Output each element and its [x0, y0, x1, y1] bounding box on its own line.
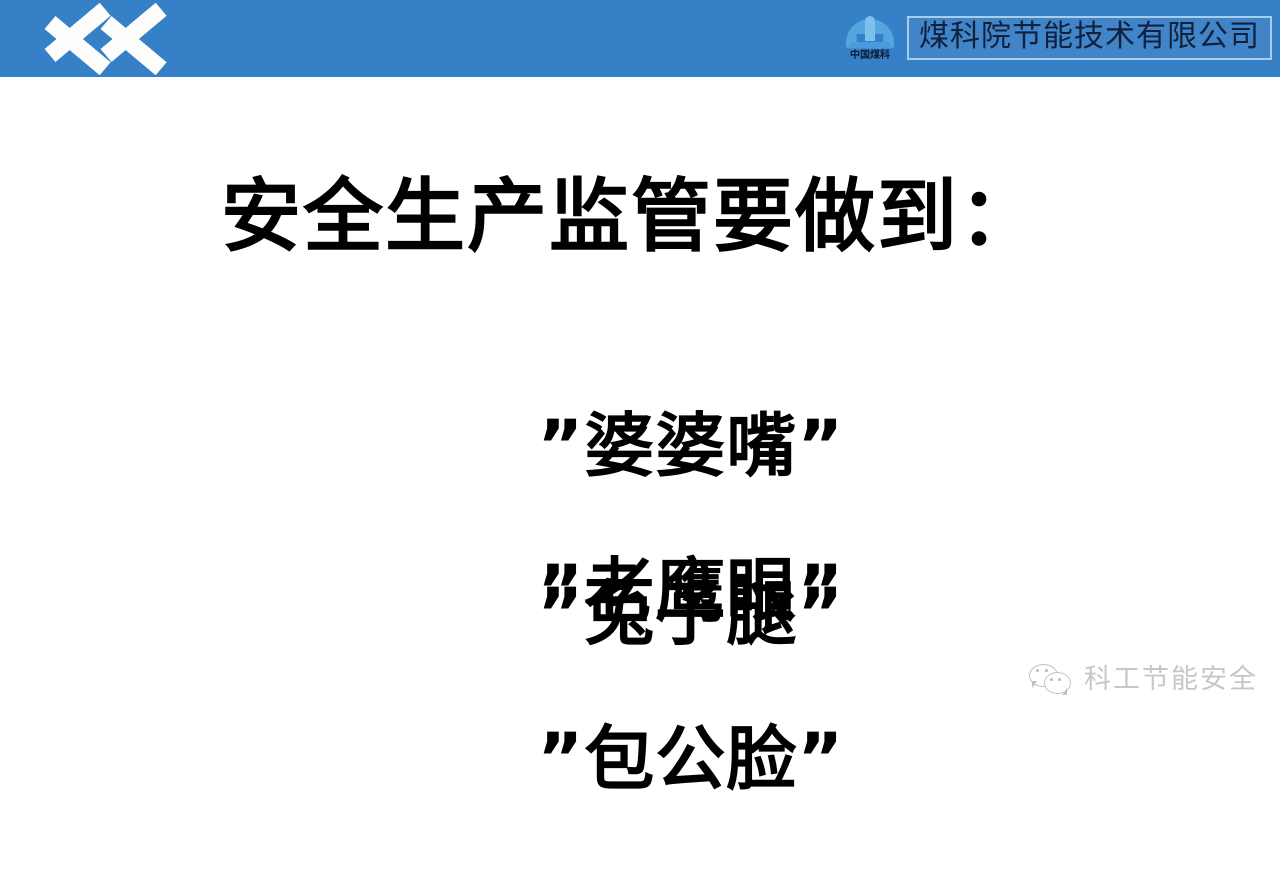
wechat-eye-dot [1058, 678, 1061, 681]
logo-pillar-shape [865, 16, 875, 41]
logo-emblem [846, 15, 894, 49]
wechat-bubble-large-tail [1032, 681, 1037, 688]
company-name-box: 煤科院节能技术有限公司 [907, 16, 1272, 60]
slide-title: 安全生产监管要做到： [0, 169, 1280, 265]
chevron-right-icon [100, 0, 184, 77]
china-coal-science-logo-icon: 中国煤科 [839, 9, 901, 67]
wechat-eye-dot [1036, 669, 1039, 672]
wechat-eye-dot [1050, 678, 1053, 681]
company-name-text: 煤科院节能技术有限公司 [919, 20, 1260, 54]
logo-caption: 中国煤科 [850, 50, 890, 62]
company-branding: 中国煤科 煤科院节能技术有限公司 [839, 7, 1272, 69]
phrase-left-2: ”老鹰眼” [537, 550, 844, 632]
slide-content: 安全生产监管要做到： ”婆婆嘴” ”兔子腿” ”老鹰眼” ”包公脸” [0, 77, 1280, 720]
logo-base-shape [848, 42, 892, 49]
wechat-icon [1029, 662, 1075, 698]
wechat-bubble-small-tail [1062, 688, 1067, 695]
phrase-right-2: ”包公脸” [537, 718, 844, 800]
watermark: 科工节能安全 [1029, 662, 1258, 698]
wechat-eye-dot [1045, 669, 1048, 672]
watermark-text: 科工节能安全 [1084, 664, 1258, 696]
header-band: 中国煤科 煤科院节能技术有限公司 [0, 0, 1280, 77]
chevron-decoration [44, 0, 224, 77]
